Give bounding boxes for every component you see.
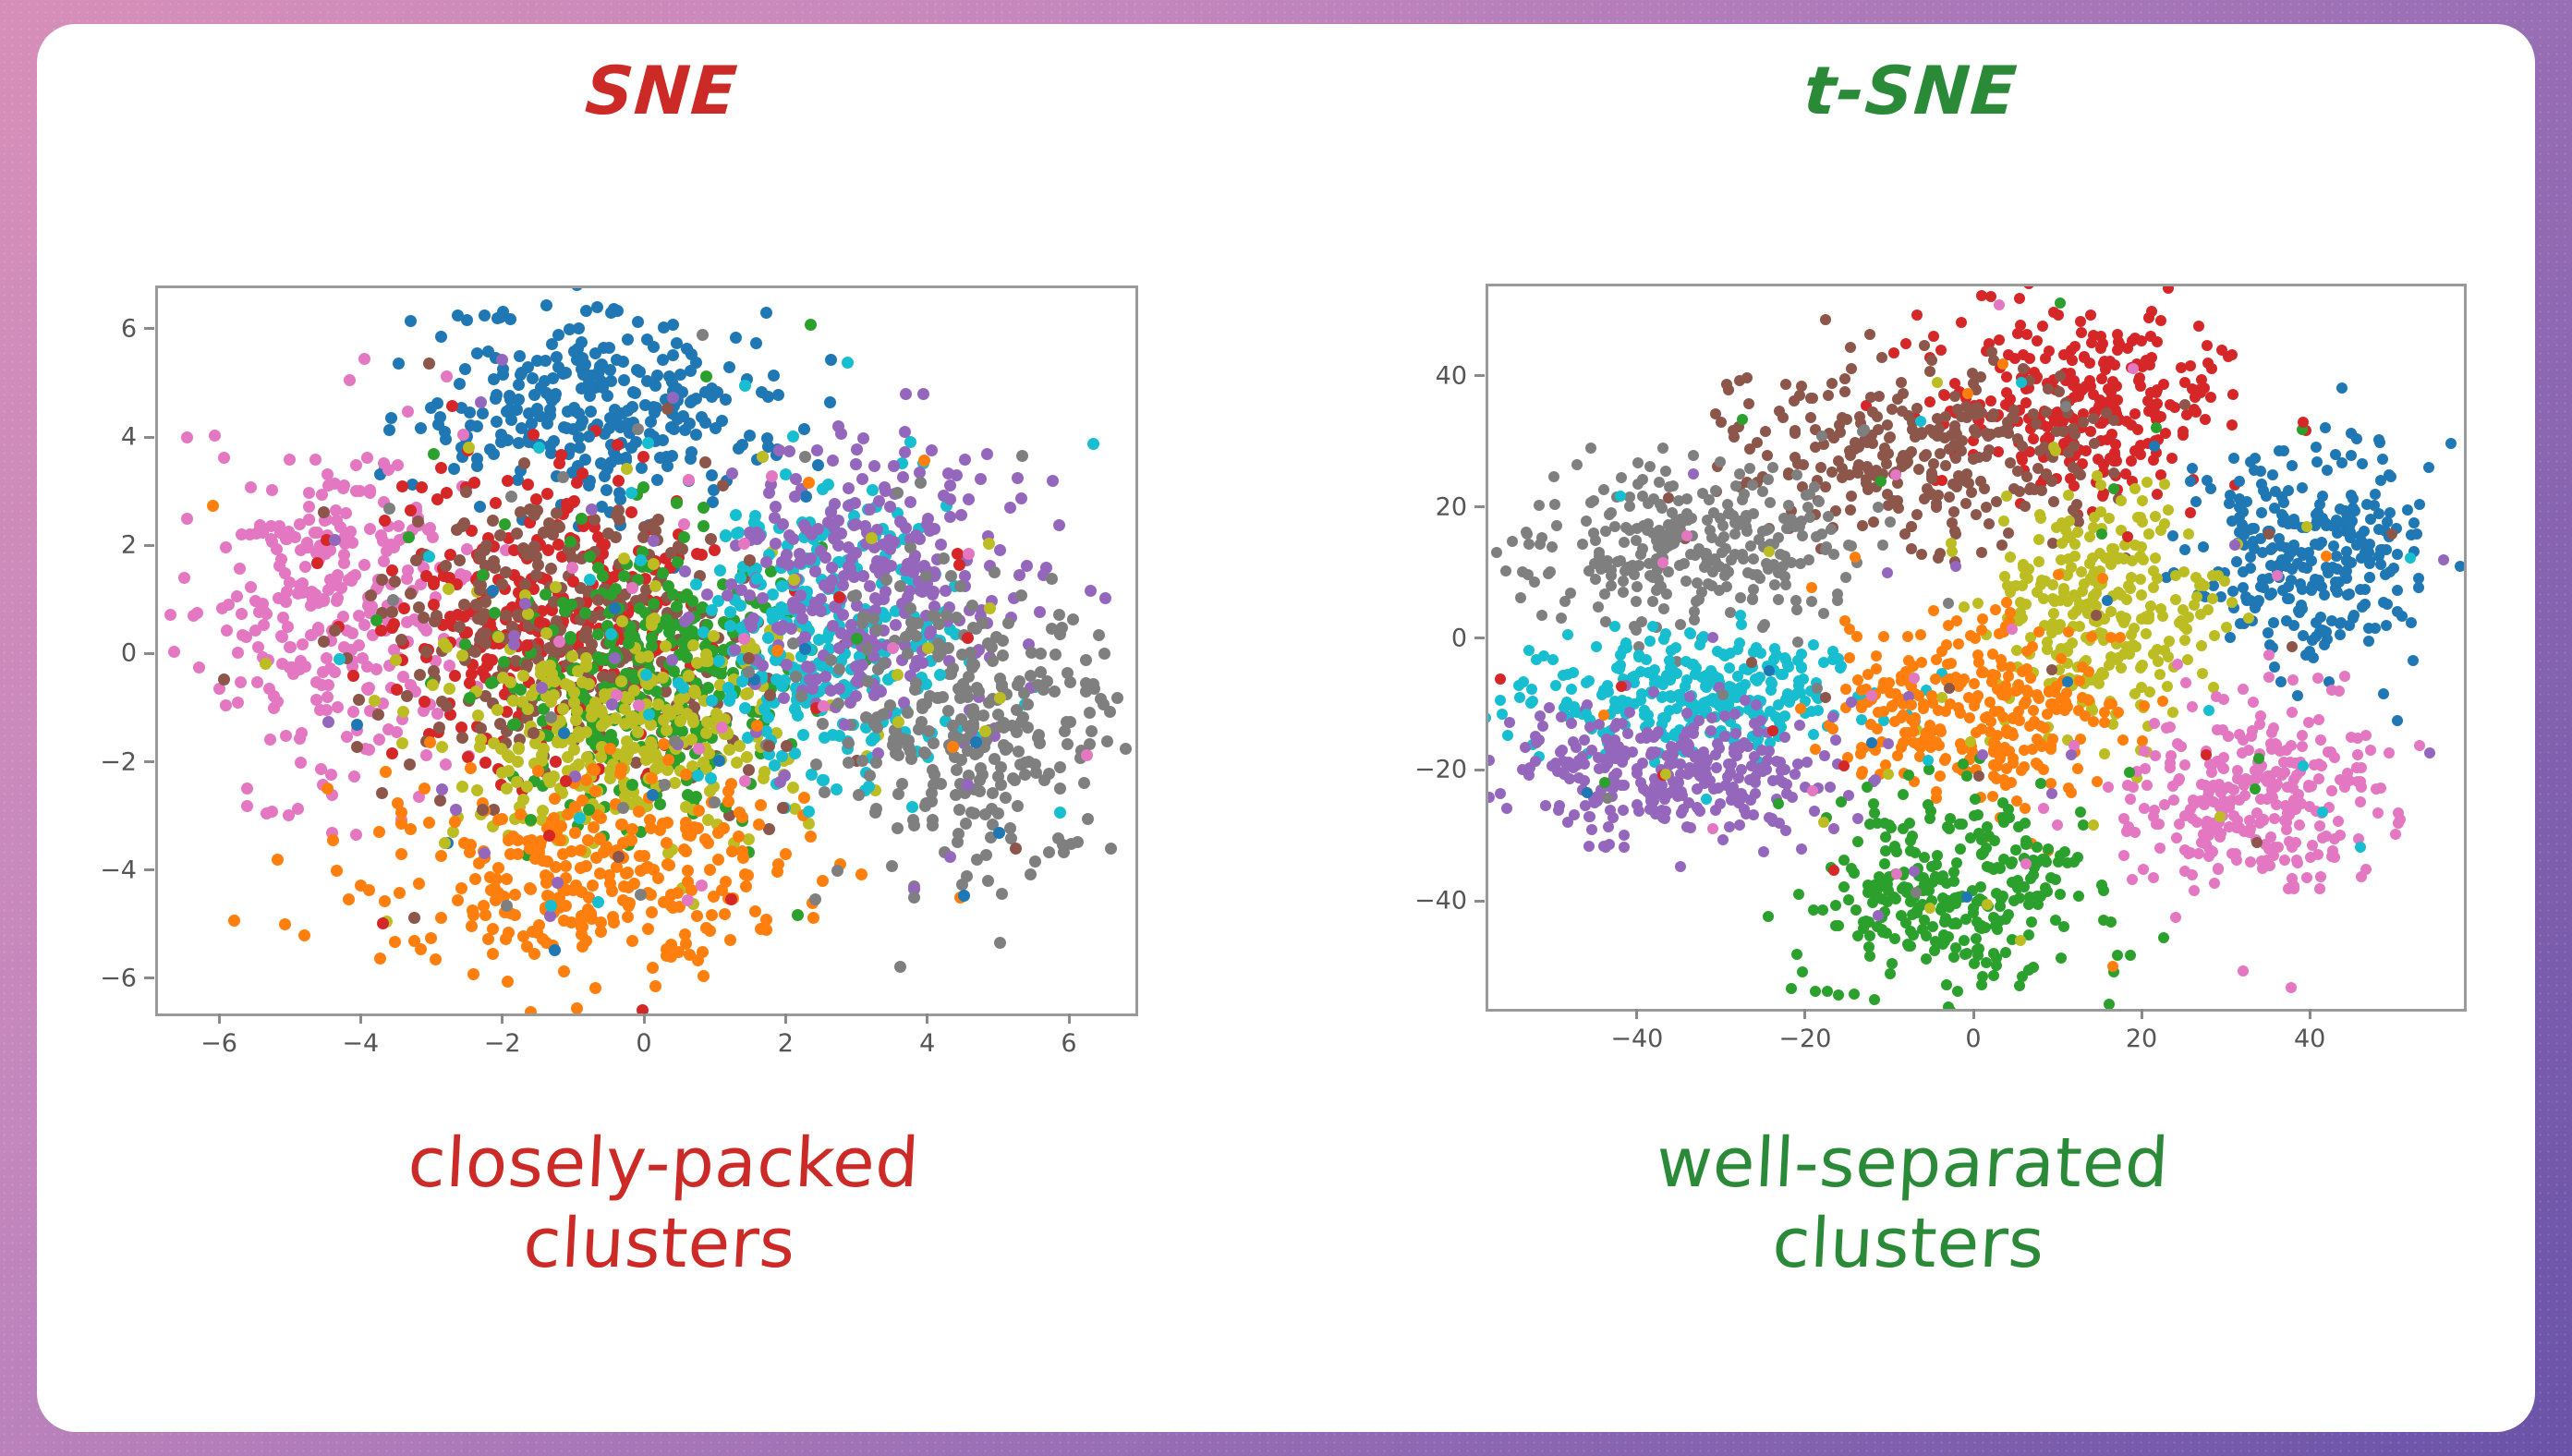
- scatter-point: [1960, 476, 1971, 487]
- scatter-point: [960, 818, 972, 830]
- scatter-point: [2364, 572, 2375, 583]
- scatter-point: [425, 932, 437, 944]
- scatter-point: [758, 772, 770, 784]
- scatter-point: [436, 741, 448, 753]
- scatter-point: [257, 527, 269, 539]
- scatter-point: [1791, 469, 1802, 480]
- scatter-point: [1734, 468, 1745, 479]
- scatter-point: [573, 322, 585, 334]
- scatter-point-outlier: [915, 477, 927, 489]
- scatter-point: [1949, 424, 1960, 435]
- scatter-point: [380, 766, 392, 778]
- scatter-point: [2033, 534, 2044, 545]
- scatter-point: [1526, 684, 1537, 695]
- scatter-point: [317, 666, 329, 678]
- scatter-point: [1523, 645, 1535, 656]
- scatter-point: [682, 829, 694, 841]
- scatter-point: [685, 396, 697, 408]
- scatter-point: [1767, 462, 1778, 473]
- scatter-point: [1016, 450, 1028, 462]
- scatter-point: [1702, 515, 1713, 526]
- scatter-point: [1845, 342, 1856, 353]
- scatter-point: [307, 593, 319, 605]
- scatter-point: [423, 817, 435, 829]
- scatter-point: [550, 581, 562, 593]
- scatter-point-outlier: [415, 943, 427, 955]
- scatter-point-outlier: [839, 719, 851, 731]
- scatter-point: [866, 734, 878, 746]
- scatter-point: [416, 481, 428, 493]
- scatter-point: [1736, 619, 1747, 630]
- scatter-point: [435, 331, 447, 343]
- scatter-point: [540, 877, 552, 889]
- scatter-point: [2005, 552, 2016, 563]
- scatter-point: [2105, 559, 2117, 570]
- scatter-point: [2193, 321, 2204, 332]
- scatter-point: [474, 501, 486, 513]
- scatter-point: [2348, 610, 2360, 621]
- scatter-point: [454, 554, 466, 566]
- scatter-point: [648, 598, 660, 610]
- scatter-point: [626, 401, 638, 413]
- scatter-point: [743, 833, 755, 845]
- scatter-point: [790, 671, 802, 683]
- scatter-point: [251, 676, 263, 688]
- scatter-point: [592, 651, 604, 663]
- scatter-point: [2067, 355, 2078, 366]
- scatter-point: [1072, 836, 1084, 848]
- scatter-point: [1647, 621, 1658, 632]
- scatter-point: [989, 566, 1001, 578]
- scatter-point: [1600, 526, 1611, 537]
- scatter-point: [1688, 450, 1699, 461]
- scatter-point: [969, 748, 981, 760]
- scatter-point: [1022, 722, 1034, 734]
- scatter-point: [2069, 429, 2081, 440]
- scatter-point: [805, 831, 817, 843]
- panel-tsne: t-SNE −40−2002040−40−2002040 well-separa…: [1286, 24, 2535, 1432]
- scatter-point: [654, 452, 666, 464]
- scatter-point: [1660, 628, 1671, 639]
- scatter-point: [589, 697, 601, 709]
- scatter-point: [1745, 540, 1756, 552]
- scatter-point: [2068, 609, 2079, 620]
- scatter-point: [613, 475, 625, 487]
- y-tick-label: 2: [44, 531, 137, 560]
- scatter-point: [2408, 517, 2420, 528]
- scatter-point-outlier: [260, 658, 272, 670]
- scatter-point: [812, 459, 824, 471]
- scatter-point: [2020, 501, 2031, 512]
- scatter-point: [321, 468, 334, 480]
- scatter-point: [1957, 435, 1968, 446]
- scatter-point: [907, 814, 919, 826]
- scatter-point: [232, 697, 244, 709]
- scatter-point: [1599, 588, 1610, 600]
- scatter-point: [994, 544, 1006, 556]
- scatter-point: [1086, 725, 1098, 737]
- scatter-point: [241, 783, 253, 795]
- scatter-point: [2195, 609, 2206, 620]
- scatter-point-outlier: [799, 643, 811, 655]
- x-tick-label: 6: [1061, 1029, 1076, 1058]
- scatter-point-outlier: [605, 628, 617, 640]
- scatter-point: [939, 642, 951, 654]
- scatter-point: [2308, 652, 2319, 663]
- scatter-point-outlier: [597, 570, 609, 582]
- scatter-point-outlier: [525, 814, 537, 826]
- scatter-point: [1047, 475, 1059, 487]
- scatter-point-outlier: [744, 554, 756, 566]
- scatter-point: [1012, 472, 1024, 484]
- scatter-point: [1926, 355, 1937, 366]
- x-tick-label: 2: [778, 1029, 794, 1058]
- scatter-point-outlier: [922, 642, 934, 654]
- scatter-point: [383, 424, 395, 436]
- scatter-point: [1832, 588, 1843, 600]
- scatter-point: [809, 893, 821, 905]
- scatter-point: [469, 873, 481, 885]
- scatter-point: [522, 479, 534, 491]
- scatter-point: [2292, 558, 2303, 569]
- scatter-point: [678, 843, 690, 855]
- scatter-point: [648, 401, 660, 413]
- scatter-point: [862, 675, 874, 687]
- scatter-point: [665, 889, 677, 901]
- scatter-point: [2084, 558, 2095, 569]
- scatter-point: [1748, 584, 1759, 595]
- scatter-point-outlier: [757, 451, 769, 463]
- scatter-point: [2314, 499, 2325, 510]
- scatter-point-outlier: [322, 716, 334, 728]
- scatter-point: [817, 718, 829, 730]
- scatter-point: [989, 753, 1001, 765]
- scatter-point: [397, 671, 409, 683]
- scatter-point: [1896, 377, 1907, 388]
- scatter-point: [1120, 743, 1132, 755]
- scatter-point: [1046, 573, 1058, 585]
- scatter-point: [760, 924, 772, 936]
- scatter-point: [1877, 540, 1888, 551]
- scatter-point: [2075, 469, 2086, 480]
- scatter-point: [596, 720, 608, 732]
- scatter-point: [2031, 419, 2042, 430]
- scatter-point: [405, 588, 417, 600]
- scatter-point-outlier: [592, 896, 604, 908]
- scatter-point: [690, 429, 702, 441]
- scatter-point: [2063, 490, 2074, 501]
- scatter-point: [435, 850, 447, 862]
- scatter-point: [232, 647, 244, 659]
- scatter-point-outlier: [887, 642, 899, 654]
- scatter-point: [1976, 547, 1987, 558]
- scatter-point: [2261, 491, 2272, 502]
- scatter-point: [615, 675, 627, 687]
- scatter-point: [2264, 589, 2275, 601]
- scatter-point: [2001, 491, 2012, 502]
- scatter-point: [673, 946, 685, 958]
- scatter-point: [657, 354, 669, 366]
- scatter-point: [977, 710, 989, 722]
- scatter-point: [472, 710, 484, 722]
- scatter-point: [712, 854, 724, 866]
- scatter-point-outlier: [533, 442, 545, 454]
- scatter-point: [744, 589, 756, 601]
- scatter-point: [2227, 389, 2238, 400]
- scatter-point: [827, 729, 839, 741]
- scatter-point: [1760, 426, 1771, 437]
- scatter-point: [1814, 496, 1825, 507]
- scatter-point: [513, 394, 525, 406]
- scatter-point: [900, 388, 912, 400]
- scatter-point: [942, 705, 954, 717]
- scatter-point: [844, 697, 856, 709]
- scatter-point: [1959, 601, 1970, 613]
- scatter-point: [389, 936, 401, 948]
- y-tick-mark: [144, 436, 154, 439]
- scatter-point: [1737, 494, 1748, 505]
- scatter-point-outlier: [521, 639, 533, 651]
- scatter-point: [272, 854, 284, 866]
- scatter-point: [1618, 587, 1629, 598]
- scatter-point: [2326, 520, 2337, 531]
- scatter-point-outlier: [944, 851, 956, 863]
- scatter-point: [372, 709, 384, 721]
- scatter-point: [1748, 569, 1759, 580]
- scatter-point: [798, 423, 810, 435]
- scatter-point-outlier: [508, 630, 520, 642]
- scatter-point: [2150, 511, 2161, 522]
- scatter-point: [2185, 360, 2196, 371]
- scatter-point: [635, 865, 647, 877]
- scatter-point: [610, 305, 622, 317]
- scatter-point: [237, 629, 249, 641]
- scatter-point: [1873, 502, 1884, 513]
- scatter-point: [518, 457, 530, 469]
- scatter-point: [678, 531, 690, 543]
- scatter-point: [464, 406, 476, 419]
- x-tick-label: −2: [484, 1029, 521, 1058]
- scatter-point: [647, 962, 659, 974]
- scatter-point: [1743, 398, 1754, 409]
- scatter-point: [1778, 513, 1789, 524]
- scatter-point: [982, 875, 994, 887]
- scatter-point: [346, 627, 358, 639]
- scatter-point: [343, 533, 355, 545]
- scatter-point: [1004, 502, 1016, 514]
- scatter-point: [2265, 560, 2276, 571]
- scatter-point: [723, 695, 735, 707]
- scatter-point: [734, 600, 746, 612]
- scatter-point: [2069, 589, 2080, 601]
- scatter-point: [1624, 525, 1635, 536]
- scatter-point: [596, 707, 608, 719]
- scatter-point: [502, 976, 514, 988]
- scatter-point: [649, 980, 661, 992]
- scatter-point: [2225, 632, 2236, 643]
- scatter-point-outlier: [984, 602, 996, 614]
- scatter-point: [1547, 654, 1559, 665]
- scatter-point: [1935, 548, 1946, 559]
- scatter-point: [589, 785, 601, 797]
- scatter-point: [767, 588, 779, 601]
- scatter-point: [1783, 500, 1794, 511]
- scatter-point: [2455, 561, 2464, 572]
- scatter-point: [626, 935, 638, 947]
- scatter-point: [842, 357, 854, 369]
- scatter-point: [261, 807, 273, 819]
- scatter-point: [760, 307, 772, 319]
- scatter-point: [778, 692, 790, 704]
- scatter-point: [1062, 738, 1074, 750]
- scatter-point: [1944, 491, 1955, 503]
- scatter-point: [961, 870, 973, 882]
- scatter-point: [449, 670, 461, 682]
- scatter-point: [829, 533, 841, 545]
- scatter-point: [321, 691, 334, 703]
- scatter-point: [1653, 675, 1664, 686]
- scatter-point: [740, 880, 752, 892]
- scatter-point: [441, 487, 453, 499]
- scatter-point: [680, 817, 692, 829]
- scatter-point: [804, 661, 816, 673]
- scatter-point: [475, 734, 487, 746]
- scatter-point: [497, 672, 509, 684]
- scatter-point: [321, 704, 333, 716]
- scatter-point: [1547, 541, 1558, 552]
- scatter-point: [671, 497, 683, 509]
- scatter-point: [2138, 554, 2149, 565]
- scatter-point: [2009, 353, 2020, 364]
- scatter-point: [2042, 637, 2053, 648]
- scatter-point: [488, 448, 500, 460]
- scatter-point: [869, 807, 881, 819]
- scatter-point-outlier: [803, 477, 815, 489]
- scatter-point: [347, 670, 359, 682]
- scatter-point: [770, 501, 782, 513]
- scatter-point: [1701, 794, 1712, 805]
- scatter-point: [1951, 481, 1962, 492]
- caption-sne-line2: clusters: [32, 1204, 1286, 1284]
- scatter-point: [1903, 449, 1914, 460]
- scatter-point: [857, 570, 869, 582]
- scatter-point: [218, 452, 230, 464]
- scatter-point: [2085, 309, 2096, 321]
- scatter-point: [341, 731, 353, 743]
- scatter-point: [353, 694, 365, 706]
- scatter-point: [1943, 598, 1954, 609]
- scatter-point: [1729, 431, 1740, 443]
- scatter-point: [896, 778, 908, 790]
- scatter-point: [1755, 648, 1766, 659]
- scatter-point: [657, 672, 669, 684]
- scatter-point: [568, 402, 580, 414]
- scatter-point: [1706, 532, 1717, 543]
- scatter-point: [2088, 413, 2099, 424]
- scatter-point: [1924, 396, 1935, 407]
- scatter-point: [2132, 512, 2143, 523]
- scatter-point: [987, 787, 999, 799]
- scatter-point-outlier: [682, 894, 694, 906]
- scatter-point-outlier: [635, 889, 647, 901]
- scatter-point-outlier: [528, 727, 540, 739]
- scatter-point: [2055, 370, 2066, 382]
- scatter-point-outlier: [626, 582, 638, 594]
- scatter-point: [1823, 511, 1834, 522]
- scatter-point: [792, 710, 804, 722]
- scatter-point: [455, 882, 467, 894]
- scatter-point-outlier: [311, 557, 323, 569]
- scatter-point: [691, 910, 703, 922]
- scatter-point: [1571, 459, 1583, 470]
- scatter-point: [370, 663, 382, 675]
- scatter-point: [496, 813, 508, 825]
- scatter-point: [584, 551, 596, 563]
- scatter-point: [928, 610, 940, 622]
- scatter-point: [1658, 603, 1669, 614]
- scatter-point: [2008, 405, 2020, 416]
- scatter-point: [1947, 517, 1958, 528]
- scatter-point: [1872, 411, 1883, 422]
- scatter-point: [589, 982, 601, 994]
- scatter-point: [418, 612, 430, 624]
- scatter-point: [571, 288, 583, 291]
- scatter-point-outlier: [708, 630, 720, 642]
- scatter-point: [1588, 495, 1599, 506]
- scatter-point: [894, 961, 906, 973]
- scatter-point: [2037, 321, 2048, 332]
- scatter-point: [688, 685, 700, 697]
- scatter-point: [2303, 547, 2314, 558]
- scatter-point: [2406, 617, 2417, 628]
- scatter-point-outlier: [428, 448, 440, 460]
- scatter-point: [1998, 516, 2009, 527]
- scatter-point-outlier: [387, 594, 399, 606]
- scatter-point: [1996, 540, 2008, 551]
- scatter-point: [1644, 636, 1656, 647]
- scatter-point: [692, 770, 704, 782]
- scatter-point: [2116, 589, 2127, 601]
- scatter-point: [2163, 286, 2174, 294]
- scatter-point: [682, 865, 694, 877]
- scatter-point: [1562, 629, 1573, 640]
- scatter-point: [594, 833, 606, 845]
- scatter-point: [871, 722, 883, 734]
- scatter-point: [870, 757, 882, 769]
- scatter-point: [310, 694, 322, 706]
- scatter-point: [434, 411, 446, 423]
- scatter-point: [452, 894, 464, 906]
- scatter-point: [2198, 541, 2209, 552]
- scatter-point: [375, 529, 387, 541]
- scatter-point: [2238, 582, 2249, 593]
- scatter-point: [235, 676, 247, 688]
- scatter-point: [528, 948, 540, 960]
- scatter-point: [2363, 636, 2374, 647]
- scatter-point-outlier: [592, 594, 604, 606]
- scatter-point: [1924, 366, 1935, 377]
- scatter-point: [484, 871, 496, 883]
- scatter-point: [618, 374, 630, 386]
- scatter-point: [1931, 502, 1942, 513]
- scatter-point: [2116, 495, 2127, 506]
- scatter-point-outlier: [423, 358, 435, 370]
- scatter-point-outlier: [781, 740, 793, 752]
- scatter-point: [890, 619, 902, 631]
- scatter-point: [236, 608, 248, 620]
- scatter-point: [629, 387, 641, 399]
- scatter-point: [1994, 334, 2005, 346]
